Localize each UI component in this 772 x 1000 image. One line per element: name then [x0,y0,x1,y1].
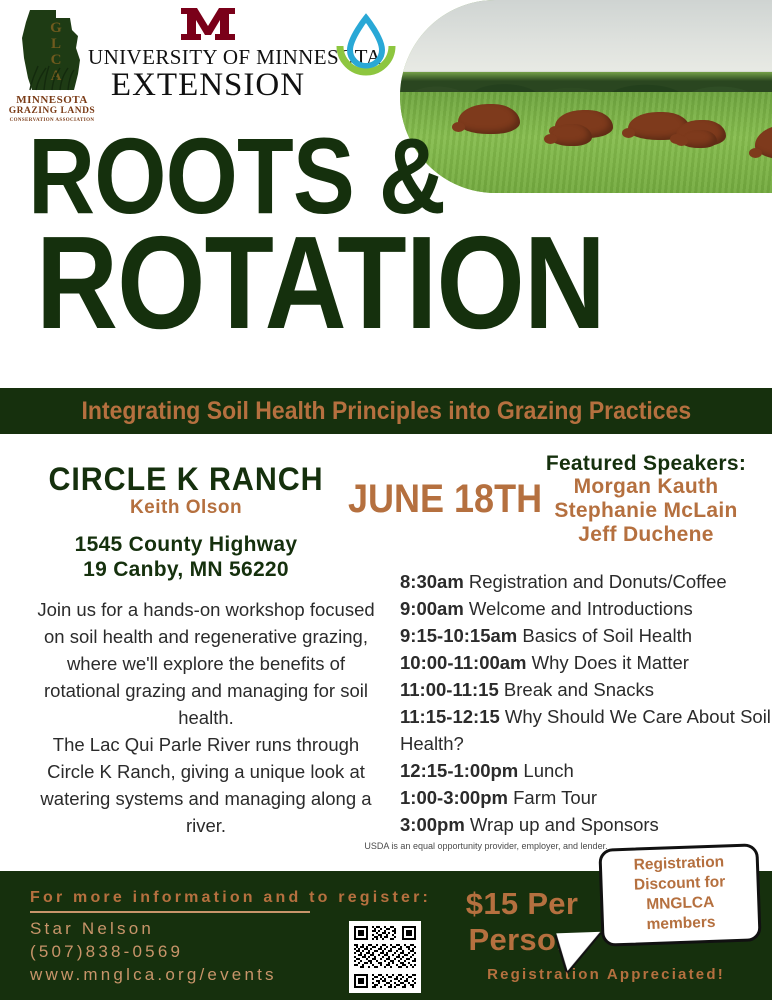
schedule-activity: Basics of Soil Health [522,625,692,646]
schedule-item: 12:15-1:00pm Lunch [400,757,772,784]
water-droplet-icon [330,8,402,80]
schedule-time: 9:00am [400,598,464,619]
schedule-item: 10:00-11:00am Why Does it Matter [400,649,772,676]
glca-line-1: MINNESOTA [8,95,96,106]
schedule-activity: Farm Tour [513,787,597,808]
svg-text:C: C [51,52,62,68]
schedule-item: 11:00-11:15 Break and Snacks [400,676,772,703]
usda-disclaimer: USDA is an equal opportunity provider, e… [355,840,617,852]
schedule-item: 9:00am Welcome and Introductions [400,595,772,622]
minnesota-state-shape-icon: G L C A [16,8,88,94]
schedule-time: 1:00-3:00pm [400,787,508,808]
schedule-time: 12:15-1:00pm [400,760,518,781]
event-date: JUNE 18TH [348,478,542,520]
schedule-activity: Wrap up and Sponsors [470,814,659,835]
venue-host: Keith Olson [26,496,346,520]
speaker-name: Stephanie McLain [520,499,772,523]
schedule-time: 9:15-10:15am [400,625,517,646]
flyer-title: ROOTS & ROTATION [28,128,748,342]
schedule-activity: Break and Snacks [504,679,654,700]
schedule-activity: Welcome and Introductions [469,598,693,619]
footer-heading: For more information and to register: [30,889,431,907]
venue-address-line-2: 19 Canby, MN 56220 [26,557,346,582]
speaker-name: Morgan Kauth [520,475,772,499]
event-flyer: G L C A MINNESOTA GRAZING LANDS CONS [0,0,772,1000]
description-paragraph-2: The Lac Qui Parle River runs through Cir… [30,731,382,839]
qr-code-registration[interactable] [349,921,421,993]
svg-text:G: G [50,20,62,36]
schedule-item: 1:00-3:00pm Farm Tour [400,784,772,811]
svg-text:L: L [51,36,61,52]
schedule-time: 8:30am [400,571,464,592]
schedule-time: 11:00-11:15 [400,679,499,700]
schedule-activity: Lunch [523,760,573,781]
schedule-item: 8:30am Registration and Donuts/Coffee [400,568,772,595]
contact-phone[interactable]: (507)838-0569 [30,942,183,962]
speaker-name: Jeff Duchene [520,523,772,547]
schedule-item: 3:00pm Wrap up and Sponsors [400,811,772,838]
venue-block: CIRCLE K RANCH Keith Olson 1545 County H… [26,462,346,582]
featured-speakers-heading: Featured Speakers: [520,452,772,475]
footer-divider [30,911,310,913]
subtitle-banner: Integrating Soil Health Principles into … [0,388,772,434]
schedule-time: 11:15-12:15 [400,706,500,727]
registration-note: Registration Appreciated! [440,966,772,983]
schedule-time: 3:00pm [400,814,465,835]
registration-discount-callout: Registration Discount for MNGLCA members [598,843,761,947]
event-schedule: 8:30am Registration and Donuts/Coffee 9:… [400,568,772,838]
cow [755,124,772,160]
schedule-item: 11:15-12:15 Why Should We Care About Soi… [400,703,772,757]
contact-website[interactable]: www.mnglca.org/events [30,965,277,985]
venue-address-line-1: 1545 County Highway [26,532,346,557]
title-line-2: ROTATION [36,224,648,342]
description-paragraph-1: Join us for a hands-on workshop focused … [30,596,382,731]
schedule-time: 10:00-11:00am [400,652,527,673]
umn-extension-text: EXTENSION [88,68,328,102]
umn-extension-logo: UNIVERSITY OF MINNESOTA EXTENSION [88,4,328,102]
schedule-activity: Why Does it Matter [532,652,689,673]
umn-m-icon [177,4,239,44]
glca-logo: G L C A MINNESOTA GRAZING LANDS CONS [8,8,96,132]
venue-name: CIRCLE K RANCH [34,462,338,496]
schedule-activity: Registration and Donuts/Coffee [469,571,727,592]
contact-name: Star Nelson [30,919,154,939]
featured-speakers-block: Featured Speakers: Morgan Kauth Stephani… [520,452,772,547]
bubble-tail [556,932,601,972]
schedule-item: 9:15-10:15am Basics of Soil Health [400,622,772,649]
subtitle-text: Integrating Soil Health Principles into … [81,397,691,426]
event-description: Join us for a hands-on workshop focused … [30,596,382,839]
bubble-line-4: members [604,911,759,936]
